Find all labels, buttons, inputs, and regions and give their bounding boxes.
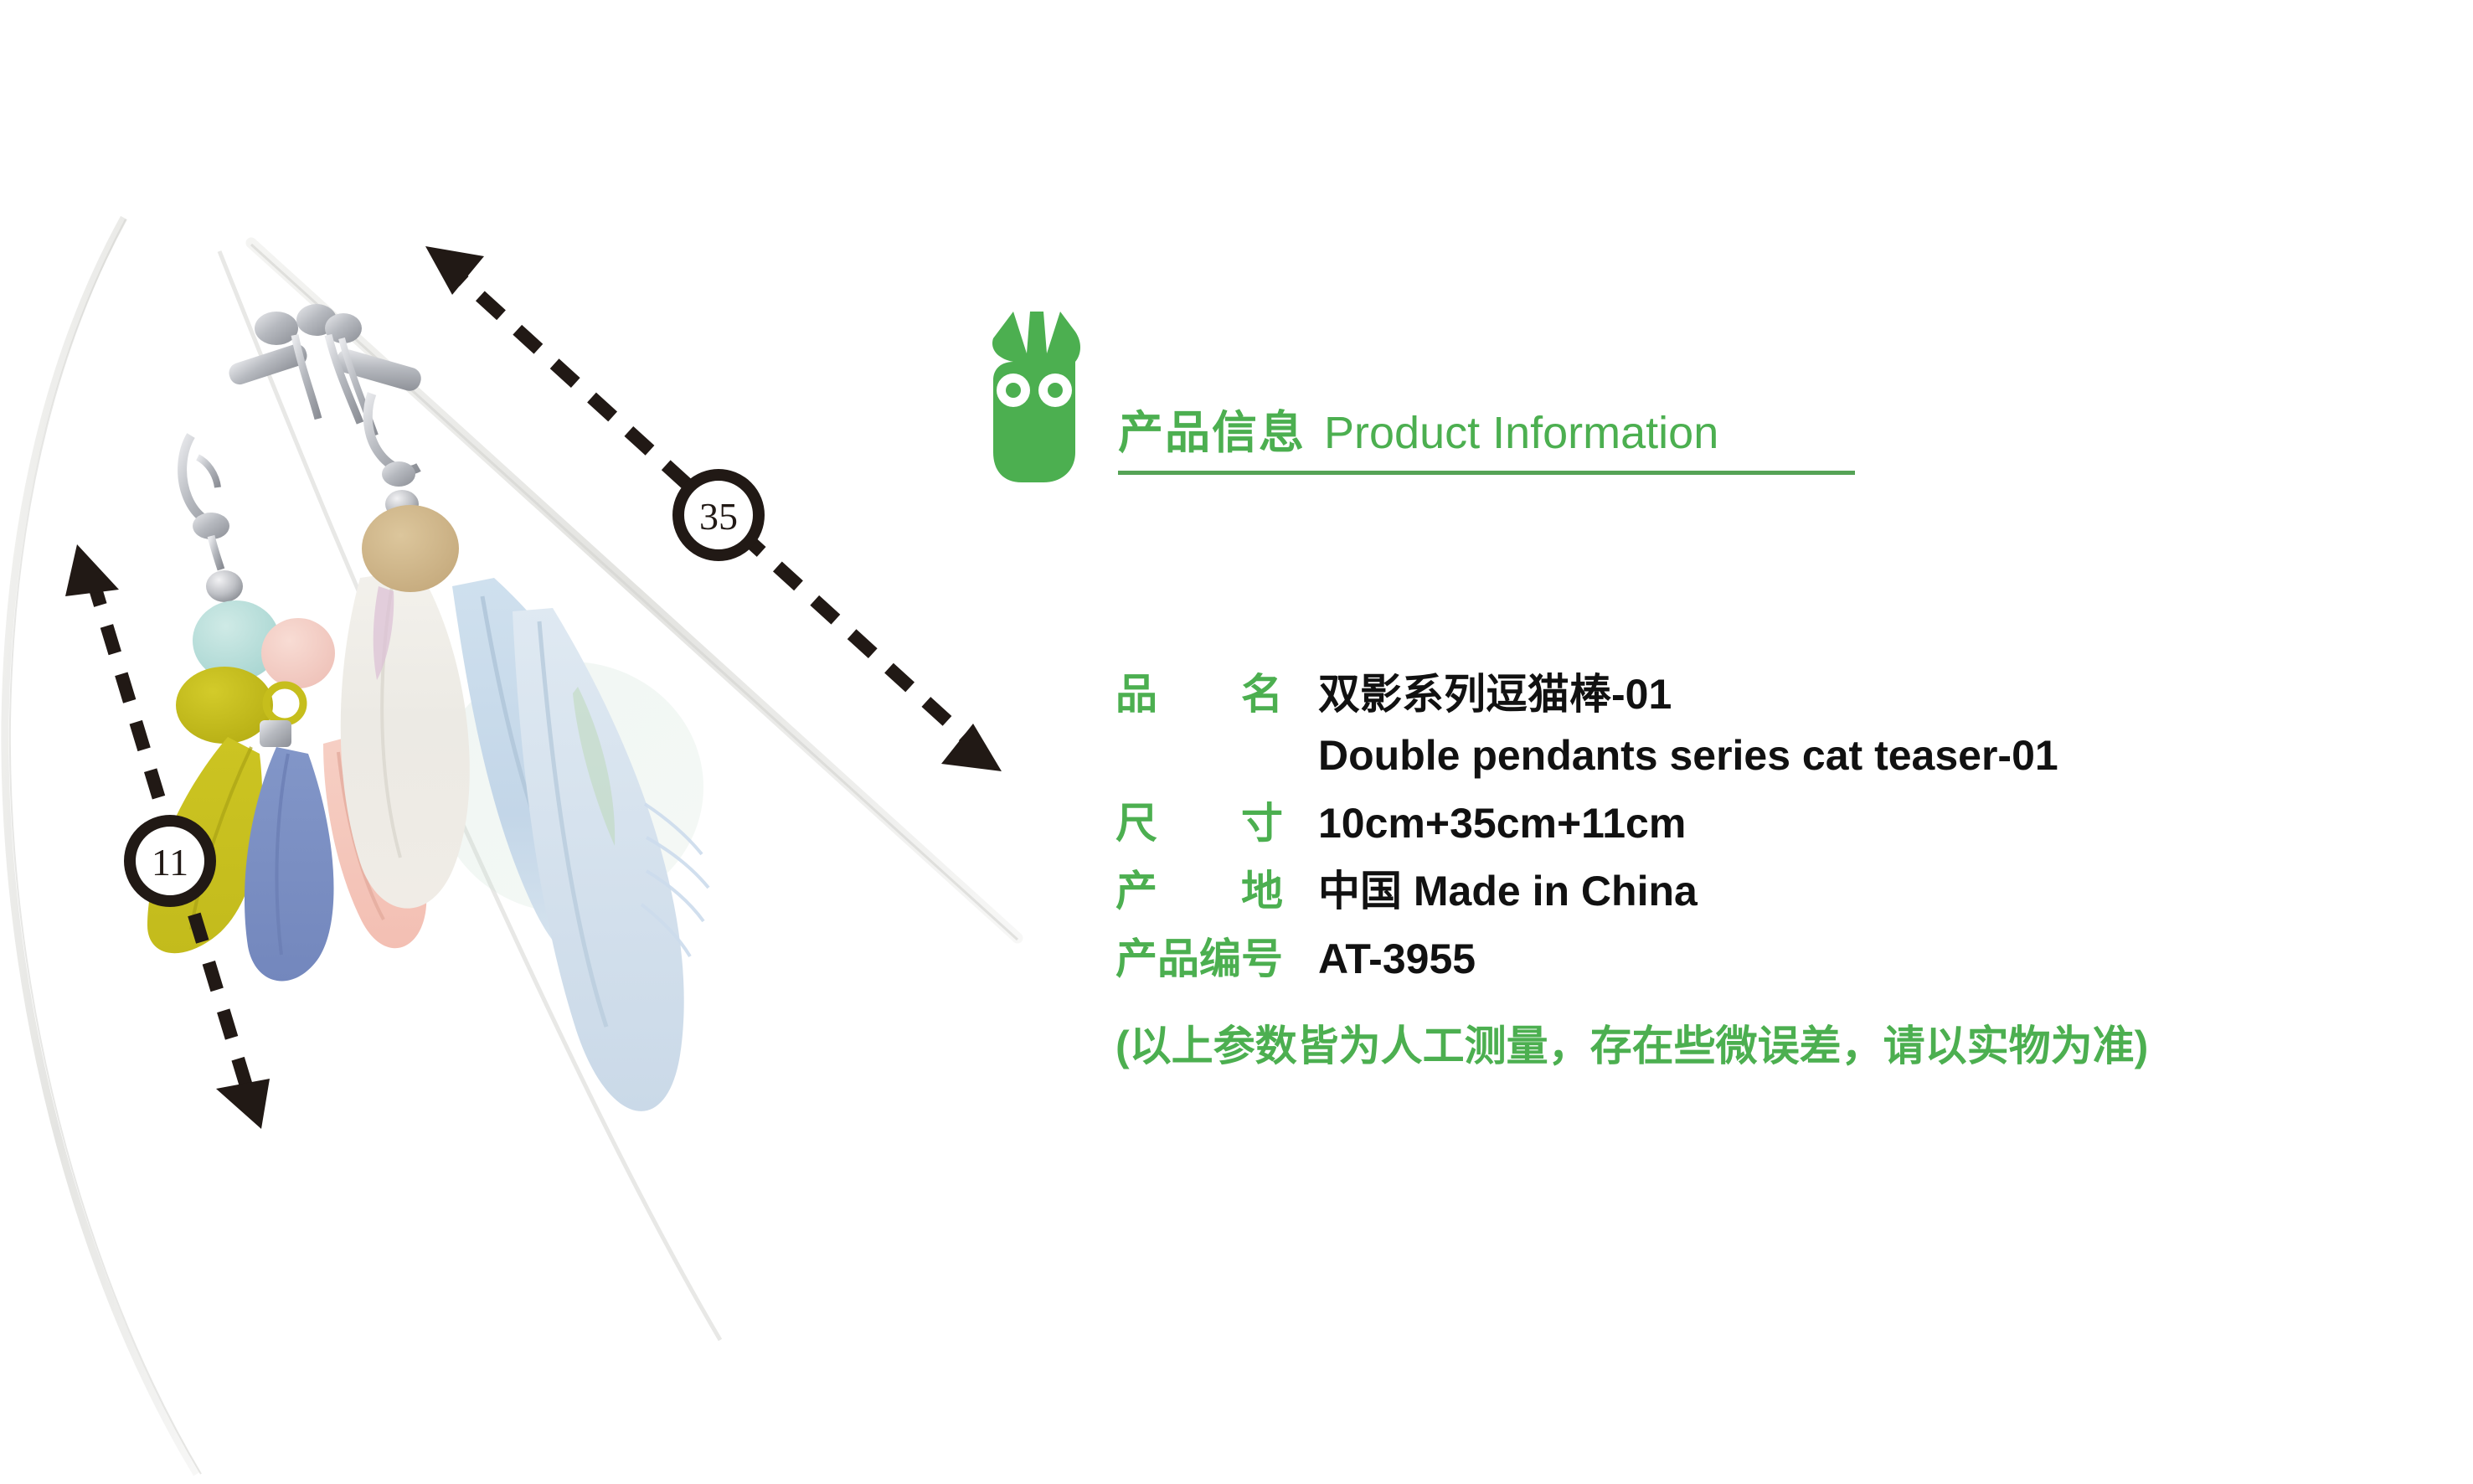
spec-value-product-name-en: Double pendants series cat teaser-01 bbox=[1318, 731, 2422, 781]
spec-value-product-name-cn: 双影系列逗猫棒-01 bbox=[1318, 671, 1672, 718]
spec-table: 品名 双影系列逗猫棒-01 Double pendants series cat… bbox=[1115, 670, 2422, 1071]
pendant-length-badge: 11 bbox=[130, 821, 210, 901]
dimension-callouts: 35 11 bbox=[0, 0, 1055, 1484]
panel-heading-rule bbox=[1118, 471, 1855, 475]
spec-value-dimensions: 10cm+35cm+11cm bbox=[1318, 799, 2422, 848]
spec-measurement-note: (以上参数皆为人工测量，存在些微误差，请以实物为准) bbox=[1115, 1021, 2422, 1071]
product-information-panel: 产品信息Product Information 品名 双影系列逗猫棒-01 Do… bbox=[988, 310, 2429, 502]
panel-heading-cn: 产品信息 bbox=[1118, 408, 1306, 458]
spec-value-product-name: 双影系列逗猫棒-01 Double pendants series cat te… bbox=[1318, 670, 2422, 781]
cat-head-icon bbox=[988, 310, 1085, 490]
spec-value-origin: 中国 Made in China bbox=[1318, 867, 2422, 916]
panel-header: 产品信息Product Information bbox=[988, 310, 2429, 502]
product-figure: 35 11 bbox=[0, 0, 1055, 1484]
product-info-page: 35 11 产品信息Produc bbox=[0, 0, 2473, 1484]
spec-label-product-code: 产品编号 bbox=[1115, 935, 1283, 984]
rod-length-badge-label: 35 bbox=[699, 495, 738, 538]
rod-length-badge: 35 bbox=[678, 475, 759, 555]
spec-label-dimensions: 尺寸 bbox=[1115, 800, 1283, 848]
spec-row-origin: 产地 中国 Made in China bbox=[1115, 867, 2422, 916]
spec-label-origin: 产地 bbox=[1115, 868, 1283, 916]
spec-row-dimensions: 尺寸 10cm+35cm+11cm bbox=[1115, 799, 2422, 848]
spec-row-product-code: 产品编号 AT-3955 bbox=[1115, 935, 2422, 984]
pendant-length-badge-label: 11 bbox=[152, 841, 188, 884]
spec-row-product-name: 品名 双影系列逗猫棒-01 Double pendants series cat… bbox=[1115, 670, 2422, 781]
spec-label-product-name: 品名 bbox=[1115, 671, 1283, 719]
spec-value-product-code: AT-3955 bbox=[1318, 935, 2422, 984]
panel-heading-en: Product Information bbox=[1324, 408, 1718, 458]
panel-heading: 产品信息Product Information bbox=[1118, 395, 1872, 461]
